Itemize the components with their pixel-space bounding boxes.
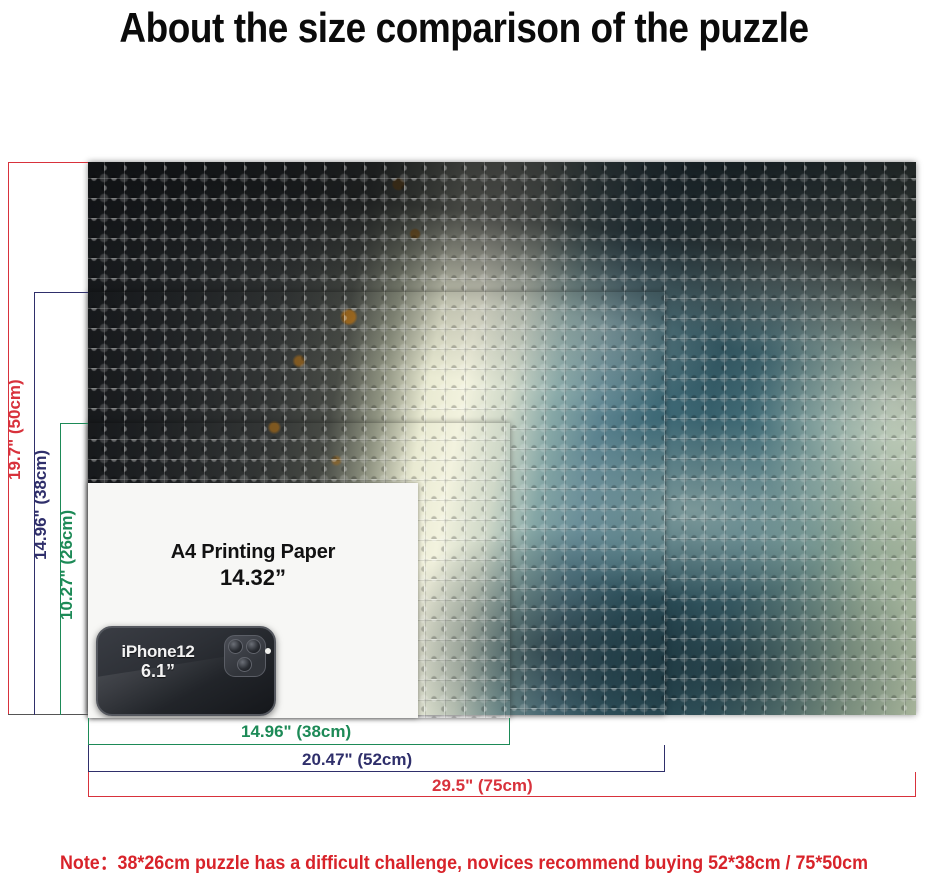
camera-lens-icon <box>228 639 243 654</box>
dimension-tick-left <box>88 745 89 772</box>
dimension-tick-left <box>88 718 89 745</box>
dimension-tick-top <box>60 423 88 424</box>
page-title: About the size comparison of the puzzle <box>56 2 873 54</box>
iphone12-reference: iPhone12 6.1” <box>96 626 276 716</box>
a4-paper-label: A4 Printing Paper 14.32” <box>88 541 418 591</box>
dimension-label-vertical-small: 10.27" (26cm) <box>57 510 77 620</box>
dimension-tick-right <box>915 772 916 797</box>
iphone-label: iPhone12 6.1” <box>100 642 216 681</box>
dimension-label-vertical-medium: 14.96" (38cm) <box>31 450 51 560</box>
dimension-tick-right <box>509 718 510 745</box>
dimension-tick-left <box>88 772 89 797</box>
dimension-label-vertical-large: 19.7" (50cm) <box>5 379 25 480</box>
bottom-note: Note：38*26cm puzzle has a difficult chal… <box>28 848 900 875</box>
a4-paper-reference: A4 Printing Paper 14.32” iPhone12 6.1” <box>88 483 418 718</box>
iphone-name: iPhone12 <box>100 642 216 661</box>
iphone-size: 6.1” <box>100 661 216 681</box>
dimension-tick-right <box>664 745 665 772</box>
dimension-tick-top <box>8 162 88 163</box>
dimension-tick-top <box>34 292 88 293</box>
camera-lens-icon <box>246 639 261 654</box>
dimension-label-horizontal-small: 14.96" (38cm) <box>241 722 351 742</box>
camera-module-icon <box>224 635 266 677</box>
camera-flash-icon <box>265 648 271 654</box>
dimension-label-horizontal-large: 29.5" (75cm) <box>432 776 533 796</box>
a4-paper-size: 14.32” <box>88 565 418 591</box>
dimension-label-horizontal-medium: 20.47" (52cm) <box>302 750 412 770</box>
camera-lens-icon <box>237 657 252 672</box>
dimension-line <box>88 796 916 797</box>
size-comparison-infographic: About the size comparison of the puzzle … <box>0 0 928 882</box>
a4-paper-name: A4 Printing Paper <box>88 541 418 565</box>
